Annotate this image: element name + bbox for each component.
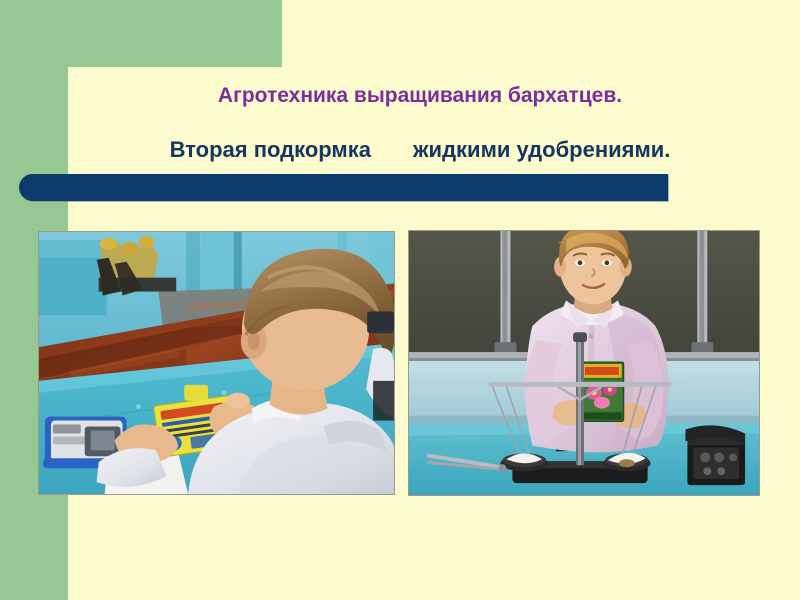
- photo-right: [408, 230, 760, 496]
- photo-left: [38, 231, 395, 495]
- page-title: Агротехника выращивания бархатцев.: [70, 84, 770, 108]
- slide-canvas: Агротехника выращивания бархатцев. Втора…: [0, 0, 800, 600]
- subtitle-part-one: Вторая подкормка: [170, 137, 371, 162]
- subtitle-part-two: жидкими удобрениями.: [413, 137, 670, 162]
- photo-left-illustration: [39, 232, 394, 494]
- page-subtitle: Вторая подкормкажидкими удобрениями.: [70, 137, 770, 163]
- green-top-block: [0, 0, 282, 67]
- navy-accent-bar: [19, 174, 668, 201]
- photo-right-illustration: [409, 231, 759, 495]
